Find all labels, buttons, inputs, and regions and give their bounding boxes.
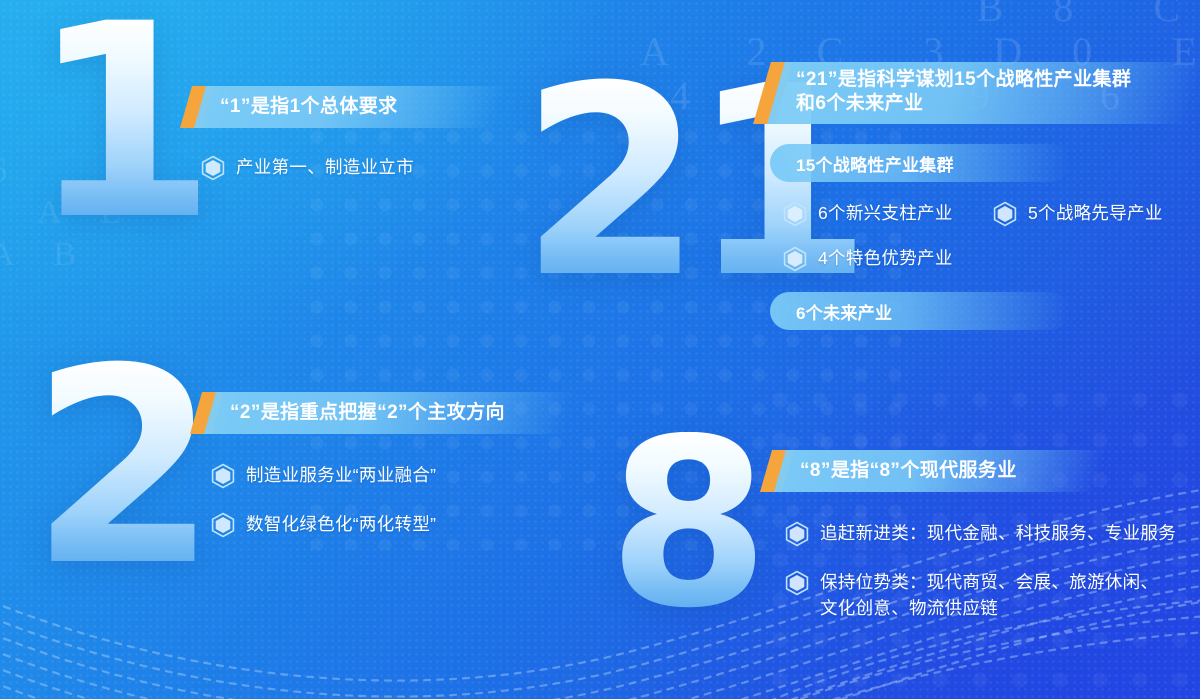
hexagon-bullet-icon xyxy=(784,521,810,547)
section-eight: “8”是指“8”个现代服务业 追赶新进类：现代金融、科技服务、专业服务 保持位势… xyxy=(766,450,1196,622)
infographic-canvas: B 8 C A 2 C 3 D 0 E 4 1 5 9 6 4 6 A E A … xyxy=(0,0,1200,699)
section-twentyone-banner: “21”是指科学谋划15个战略性产业集群 和6个未来产业 xyxy=(762,62,1192,124)
list-item-label: 6个新兴支柱产业 xyxy=(818,200,953,226)
section-two-banner: “2”是指重点把握“2”个主攻方向 xyxy=(196,392,596,434)
list-item: 数智化绿色化“两化转型” xyxy=(210,511,596,538)
section-twentyone: “21”是指科学谋划15个战略性产业集群 和6个未来产业 15个战略性产业集群 … xyxy=(762,62,1192,330)
big-number-2: 2 xyxy=(30,360,212,576)
sub-header-pill-future-industries: 6个未来产业 xyxy=(770,292,1070,330)
section-two-items: 制造业服务业“两业融合” 数智化绿色化“两化转型” xyxy=(196,462,596,538)
hexagon-bullet-icon xyxy=(200,155,226,181)
sub-header-pill-label: 6个未来产业 xyxy=(770,299,892,324)
section-one: “1”是指1个总体要求 产业第一、制造业立市 xyxy=(186,86,566,181)
list-item-label: 制造业服务业“两业融合” xyxy=(246,462,436,488)
hexagon-bullet-icon xyxy=(210,512,236,538)
section-eight-banner: “8”是指“8”个现代服务业 xyxy=(766,450,1196,492)
sub-header-pill-strategic-clusters: 15个战略性产业集群 xyxy=(770,144,1070,182)
section-eight-items: 追赶新进类：现代金融、科技服务、专业服务 保持位势类：现代商贸、会展、旅游休闲、… xyxy=(766,520,1196,622)
hexagon-bullet-icon xyxy=(992,201,1018,227)
section-one-items: 产业第一、制造业立市 xyxy=(186,154,566,181)
hexagon-bullet-icon xyxy=(782,201,808,227)
list-item-label: 数智化绿色化“两化转型” xyxy=(246,511,436,537)
section-eight-banner-title: “8”是指“8”个现代服务业 xyxy=(766,459,1017,483)
big-number-8: 8 xyxy=(608,432,761,618)
list-item: 产业第一、制造业立市 xyxy=(200,154,566,181)
list-item-label: 追赶新进类：现代金融、科技服务、专业服务 xyxy=(820,520,1176,546)
section-one-banner-title: “1”是指1个总体要求 xyxy=(186,95,398,119)
section-two-banner-title: “2”是指重点把握“2”个主攻方向 xyxy=(196,401,505,425)
list-item-label: 5个战略先导产业 xyxy=(1028,200,1163,226)
list-item-label: 产业第一、制造业立市 xyxy=(236,154,414,180)
list-item-label: 保持位势类：现代商贸、会展、旅游休闲、 文化创意、物流供应链 xyxy=(820,569,1158,622)
sub-header-pill-label: 15个战略性产业集群 xyxy=(770,151,954,176)
list-item: 追赶新进类：现代金融、科技服务、专业服务 xyxy=(784,520,1196,547)
section-twentyone-banner-title: “21”是指科学谋划15个战略性产业集群 和6个未来产业 xyxy=(762,62,1131,115)
list-item-label: 4个特色优势产业 xyxy=(818,245,953,271)
section-one-banner: “1”是指1个总体要求 xyxy=(186,86,566,128)
section-two: “2”是指重点把握“2”个主攻方向 制造业服务业“两业融合” 数智化绿色化“两化… xyxy=(196,392,596,538)
list-item: 制造业服务业“两业融合” xyxy=(210,462,596,489)
list-item: 6个新兴支柱产业 xyxy=(782,200,992,227)
list-item: 4个特色优势产业 xyxy=(782,245,992,272)
list-item: 保持位势类：现代商贸、会展、旅游休闲、 文化创意、物流供应链 xyxy=(784,569,1196,622)
section-twentyone-items: 6个新兴支柱产业 5个战略先导产业 4个特色优势产业 xyxy=(762,200,1192,272)
hexagon-bullet-icon xyxy=(210,463,236,489)
list-item: 5个战略先导产业 xyxy=(992,200,1192,227)
hexagon-bullet-icon xyxy=(782,246,808,272)
hexagon-bullet-icon xyxy=(784,570,810,596)
